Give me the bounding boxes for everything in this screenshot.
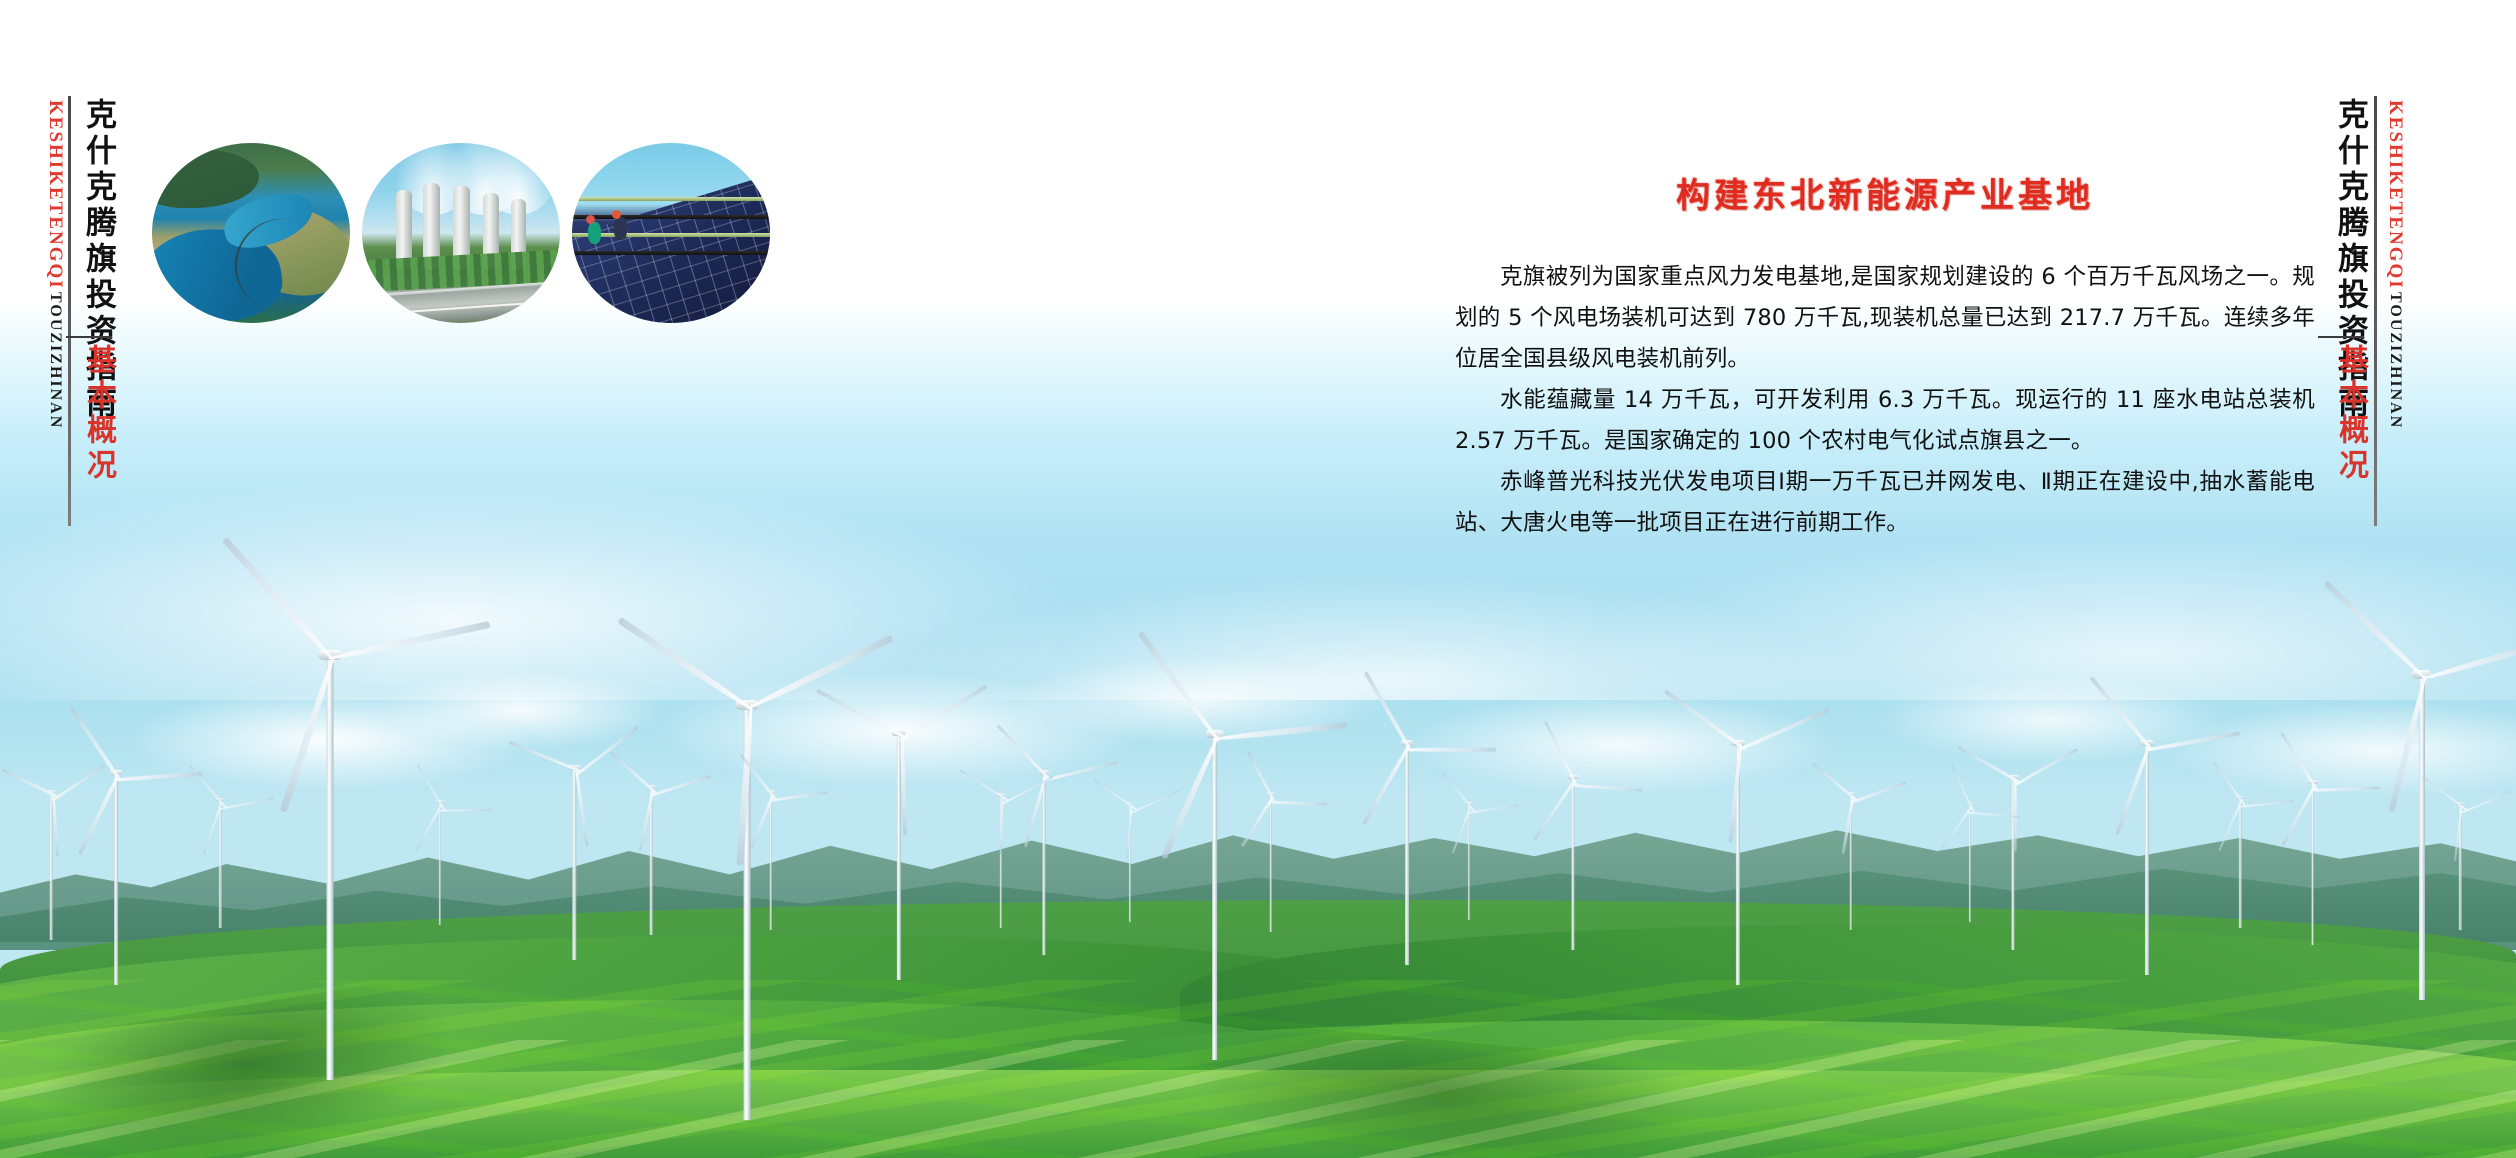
thermal-power-plant-photo xyxy=(362,143,560,323)
pv-panel-array xyxy=(572,173,770,323)
wind-turbine xyxy=(1190,730,1239,1060)
wind-turbine xyxy=(640,785,663,935)
turbine-tower xyxy=(2419,670,2425,1000)
turbine-tower xyxy=(1270,792,1273,932)
turbine-tower xyxy=(1969,802,1971,922)
mounting-rail-1 xyxy=(576,197,770,201)
banner-divider-right xyxy=(2318,336,2364,338)
banner-subtitle-right: 基本概况 xyxy=(2328,344,2372,484)
banner-divider xyxy=(66,336,112,338)
wind-turbine xyxy=(1960,802,1979,922)
wind-turbine xyxy=(560,765,589,960)
article-paragraph: 水能蕴藏量 14 万千瓦，可开发利用 6.3 万千瓦。现运行的 11 座水电站总… xyxy=(1455,380,2315,462)
brochure-page: KESHIKETENGQI TOUZIZHINAN 克什克腾旗投资指南 基本概况… xyxy=(0,0,2516,1158)
wind-turbine xyxy=(990,793,1011,928)
turbine-tower xyxy=(1042,770,1045,955)
wind-turbine xyxy=(40,790,63,940)
hydro-dam-reservoir-photo xyxy=(152,143,350,323)
article-headline: 构建东北新能源产业基地 xyxy=(1455,168,2315,217)
wind-turbine xyxy=(1120,802,1139,922)
turbine-tower xyxy=(770,790,773,930)
article-paragraph: 赤峰普光科技光伏发电项目Ⅰ期一万千瓦已并网发电、Ⅱ期正在建设中,抽水蓄能电站、大… xyxy=(1455,462,2315,544)
wind-turbine xyxy=(100,770,132,985)
wind-turbine xyxy=(1460,802,1479,920)
wind-turbine xyxy=(1560,775,1586,950)
worker-figure-1 xyxy=(588,222,601,244)
turbine-tower xyxy=(2145,740,2149,975)
wind-turbine xyxy=(1720,740,1756,985)
banner-subtitle: 基本概况 xyxy=(76,344,120,484)
turbine-blade xyxy=(1404,748,1496,752)
turbine-blade xyxy=(575,768,589,847)
turbine-tower xyxy=(1212,730,1218,1060)
mounting-rail-4 xyxy=(572,251,770,255)
turbine-tower xyxy=(114,770,118,985)
wind-turbine xyxy=(1840,792,1862,930)
banner-vertical-rule xyxy=(68,96,71,526)
banner-pinyin-black: TOUZIZHINAN xyxy=(46,292,64,429)
turbine-tower xyxy=(573,765,576,960)
turbine-tower xyxy=(1468,802,1470,920)
article-block: 构建东北新能源产业基地 克旗被列为国家重点风力发电基地,是国家规划建设的 6 个… xyxy=(1455,168,2315,544)
wind-turbine xyxy=(880,730,917,980)
turbine-tower xyxy=(2239,796,2241,928)
worker-helmet-1 xyxy=(586,215,595,224)
wind-turbine xyxy=(760,790,782,930)
turbine-tower xyxy=(2311,780,2314,945)
turbine-tower xyxy=(327,650,334,1080)
solar-pv-array-photo xyxy=(572,143,770,323)
wind-turbine xyxy=(1390,740,1424,965)
banner-pinyin-red: KESHIKETENGQI xyxy=(44,100,66,290)
turbine-tower xyxy=(1405,740,1409,965)
mounting-rail-3 xyxy=(572,233,770,237)
wind-turbine xyxy=(2000,775,2026,950)
banner-pinyin-black-right: TOUZIZHINAN xyxy=(2386,292,2404,429)
banner-vertical-rule-right xyxy=(2374,96,2377,526)
turbine-blade xyxy=(52,793,59,856)
wind-turbine xyxy=(1260,792,1282,932)
banner-pinyin-red-right: KESHIKETENGQI xyxy=(2384,100,2406,290)
wind-turbine xyxy=(2396,670,2448,1000)
wind-turbine xyxy=(430,800,450,925)
wind-turbine xyxy=(1030,770,1058,955)
wind-turbine xyxy=(2450,802,2470,930)
wind-turbine xyxy=(210,798,230,928)
article-paragraph: 克旗被列为国家重点风力发电基地,是国家规划建设的 6 个百万千瓦风场之一。规划的… xyxy=(1455,257,2315,380)
turbine-tower xyxy=(219,798,221,928)
worker-helmet-2 xyxy=(612,210,621,219)
mounting-rail-2 xyxy=(572,215,770,219)
wind-turbine xyxy=(300,650,360,1080)
wind-turbine xyxy=(2130,740,2165,975)
wind-turbine xyxy=(2230,796,2250,928)
turbine-tower xyxy=(1572,775,1575,950)
worker-figure-2 xyxy=(614,217,627,240)
wind-turbine xyxy=(2300,780,2325,945)
dam-forest xyxy=(152,150,259,208)
turbine-blade xyxy=(1841,796,1854,855)
turbine-tower xyxy=(439,800,441,925)
